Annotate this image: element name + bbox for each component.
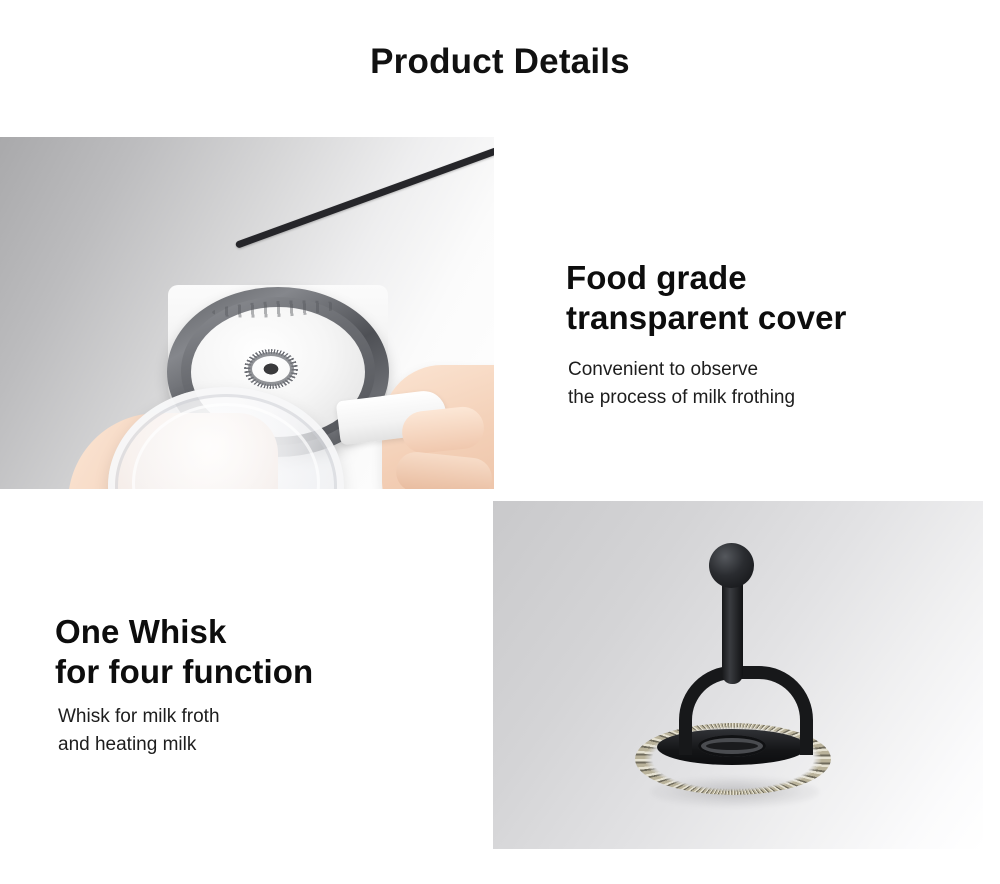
whisk-inside-jug xyxy=(248,352,294,386)
feature-block-one-whisk: One Whisk for four function Whisk for mi… xyxy=(55,612,455,759)
feature-subtitle-transparent-cover: Convenient to observe the process of mil… xyxy=(568,356,966,412)
page-title: Product Details xyxy=(0,42,1000,82)
photo-hands-holding-transparent-lid xyxy=(0,137,494,489)
feature-heading-one-whisk: One Whisk for four function xyxy=(55,612,455,693)
power-cord xyxy=(235,140,494,249)
whisk-ball-knob xyxy=(709,543,754,588)
feature-subtitle-one-whisk: Whisk for milk froth and heating milk xyxy=(58,703,455,759)
feature-block-transparent-cover: Food grade transparent cover Convenient … xyxy=(566,258,966,412)
photo-whisk-attachment xyxy=(493,501,983,849)
whisk-arch-bridge xyxy=(679,666,813,755)
feature-heading-transparent-cover: Food grade transparent cover xyxy=(566,258,966,339)
